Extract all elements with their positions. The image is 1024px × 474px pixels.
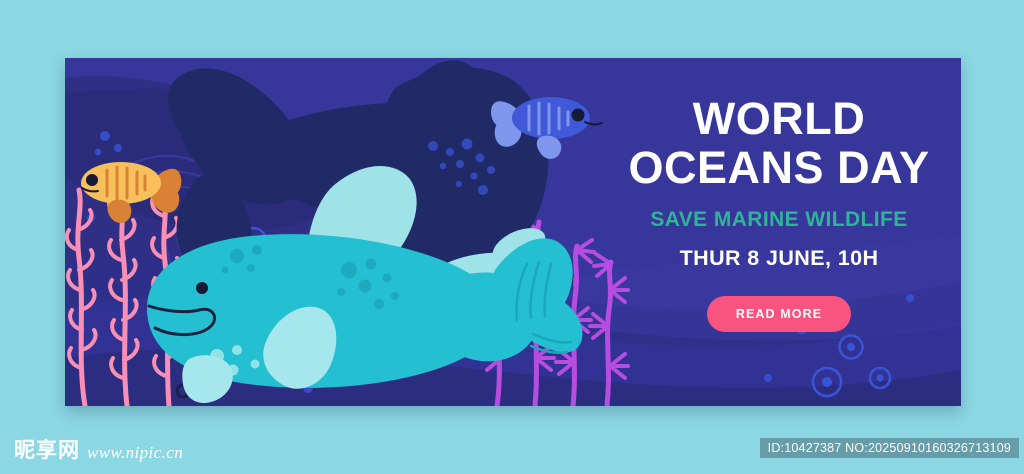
asset-id-label: ID:10427387 NO:20250910160326713109 [760, 438, 1019, 458]
banner-container: WORLD OCEANS DAY SAVE MARINE WILDLIFE TH… [65, 58, 961, 406]
nipic-logo: 昵享网 www.nipic.cn [14, 434, 183, 464]
page-title-line-2: OCEANS DAY [605, 143, 953, 192]
ocean-banner: WORLD OCEANS DAY SAVE MARINE WILDLIFE TH… [65, 58, 961, 406]
event-datetime: THUR 8 JUNE, 10H [605, 246, 953, 271]
subheading: SAVE MARINE WILDLIFE [605, 208, 953, 232]
page-title-line-1: WORLD [605, 94, 953, 143]
footer-watermark-bar: 昵享网 www.nipic.cn ID:10427387 NO:20250910… [0, 406, 1024, 474]
banner-text-column: WORLD OCEANS DAY SAVE MARINE WILDLIFE TH… [605, 94, 953, 332]
read-more-button[interactable]: READ MORE [707, 296, 851, 332]
nipic-logo-url: www.nipic.cn [87, 443, 183, 464]
nipic-logo-cn: 昵享网 [14, 434, 80, 464]
